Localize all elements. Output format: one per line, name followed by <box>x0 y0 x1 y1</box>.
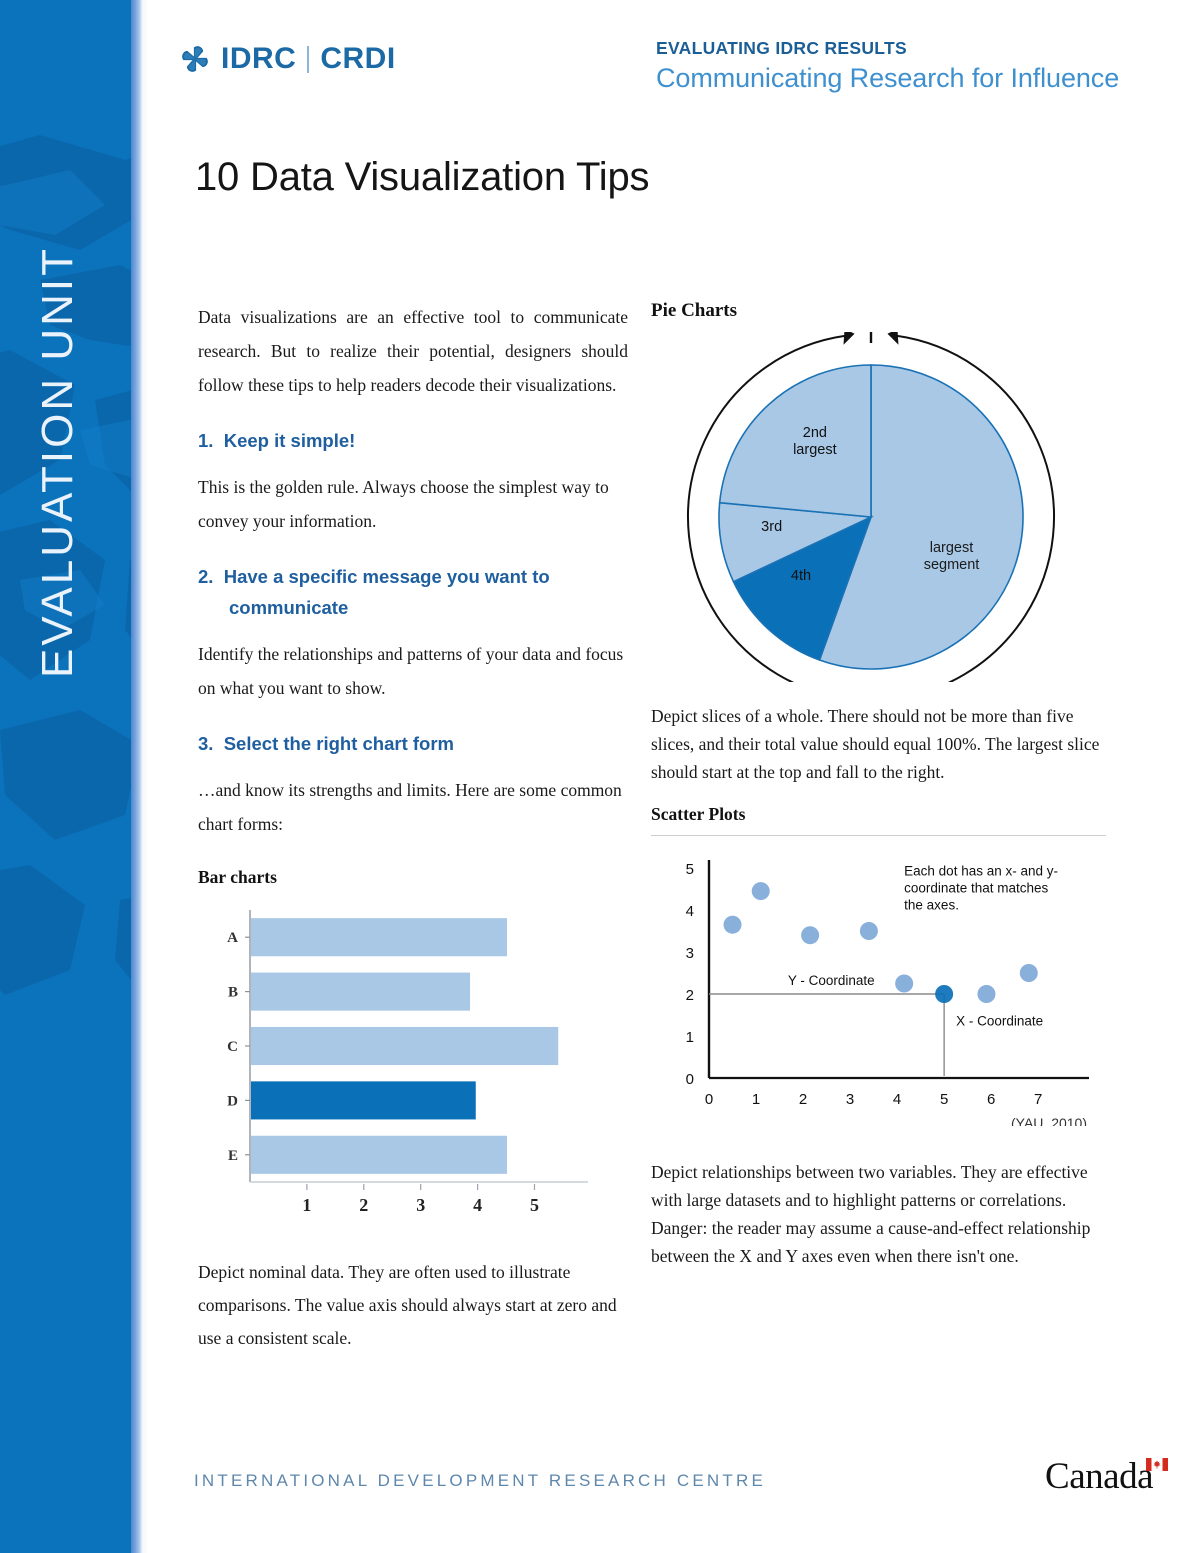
page-content: IDRC CRDI EVALUATING IDRC RESULTS Commun… <box>148 0 1200 1553</box>
intro-paragraph: Data visualizations are an effective too… <box>198 300 628 402</box>
idrc-flower-logo-icon <box>178 42 212 76</box>
header-eyebrow: EVALUATING IDRC RESULTS <box>656 38 1119 59</box>
scatter-plots-label: Scatter Plots <box>651 804 1106 825</box>
bar-charts-label: Bar charts <box>198 867 628 888</box>
logo-text-fr: CRDI <box>320 42 395 76</box>
tip-3-heading: 3. Select the right chart form <box>198 728 628 759</box>
tip-1-number: 1. <box>198 430 213 451</box>
tip-3-number: 3. <box>198 733 213 754</box>
scatter-point-5 <box>935 985 953 1003</box>
scatter-plot-figure: 01234501234567Y - CoordinateX - Coordina… <box>651 835 1106 1136</box>
scatter-plots-caption: Depict relationships between two variabl… <box>651 1158 1106 1270</box>
canada-flag-icon <box>1146 1458 1168 1471</box>
page-title: 10 Data Visualization Tips <box>195 155 649 200</box>
scatter-xtick-1: 1 <box>752 1091 760 1108</box>
pie-label-largest-segment: largest <box>930 540 974 556</box>
header-tagline: Communicating Research for Influence <box>656 63 1119 94</box>
tip-2-heading: 2. Have a specific message you want to c… <box>198 561 628 623</box>
tip-3-title: Select the right chart form <box>224 733 454 754</box>
canada-wordmark-text: Canada <box>1045 1455 1153 1498</box>
logo-divider <box>307 46 309 73</box>
scatter-citation: (YAU, 2010) <box>1011 1115 1087 1126</box>
tip-1-title: Keep it simple! <box>224 430 356 451</box>
scatter-xtick-3: 3 <box>846 1091 854 1108</box>
scatter-y-coordinate-label: Y - Coordinate <box>788 973 875 988</box>
pie-chart-figure: Startlargestsegment4th3rd2ndlargest <box>661 332 1091 682</box>
scatter-ytick-4: 4 <box>686 903 694 920</box>
bar-xtick-5: 5 <box>530 1195 539 1215</box>
bar-ytick-C: C <box>227 1039 238 1055</box>
bar-ytick-B: B <box>228 985 238 1001</box>
canada-wordmark: Canada <box>1045 1455 1168 1498</box>
scatter-ytick-5: 5 <box>686 861 694 878</box>
sidebar-vertical-title: EVALUATION UNIT <box>33 182 83 742</box>
document-footer: INTERNATIONAL DEVELOPMENT RESEARCH CENTR… <box>178 1455 1168 1515</box>
logo-text-en: IDRC <box>221 42 296 76</box>
bar-A <box>251 918 507 956</box>
left-column: Data visualizations are an effective too… <box>198 300 628 1357</box>
pie-label-2nd-largest: largest <box>793 442 837 458</box>
scatter-ytick-2: 2 <box>686 987 694 1004</box>
footer-organization-name: INTERNATIONAL DEVELOPMENT RESEARCH CENTR… <box>194 1471 766 1491</box>
left-sidebar-banner: EVALUATION UNIT <box>0 0 131 1553</box>
scatter-ytick-1: 1 <box>686 1029 694 1046</box>
scatter-xtick-0: 0 <box>705 1091 713 1108</box>
pie-label-4th: 4th <box>791 568 811 584</box>
bar-xtick-4: 4 <box>473 1195 482 1215</box>
bar-xtick-2: 2 <box>359 1195 368 1215</box>
scatter-annotation-line-2: the axes. <box>904 898 959 913</box>
scatter-point-6 <box>977 985 995 1003</box>
scatter-ytick-0: 0 <box>686 1071 694 1088</box>
bar-chart-figure: ABCDE12345 <box>208 902 608 1232</box>
bar-xtick-1: 1 <box>302 1195 311 1215</box>
pie-arrow-left <box>844 332 855 345</box>
document-header: IDRC CRDI EVALUATING IDRC RESULTS Commun… <box>178 38 1168 128</box>
scatter-point-0 <box>724 916 742 934</box>
scatter-xtick-6: 6 <box>987 1091 995 1108</box>
scatter-xtick-5: 5 <box>940 1091 948 1108</box>
tip-2-body: Identify the relationships and patterns … <box>198 637 628 705</box>
scatter-xtick-7: 7 <box>1034 1091 1042 1108</box>
pie-charts-label: Pie Charts <box>651 300 1106 322</box>
scatter-point-7 <box>1020 964 1038 982</box>
tip-1-body: This is the golden rule. Always choose t… <box>198 470 628 538</box>
tip-3-body: …and know its strengths and limits. Here… <box>198 773 628 841</box>
scatter-ytick-3: 3 <box>686 945 694 962</box>
right-column: Pie Charts Startlargestsegment4th3rd2ndl… <box>651 300 1106 1272</box>
scatter-point-3 <box>860 922 878 940</box>
header-subtitle-block: EVALUATING IDRC RESULTS Communicating Re… <box>656 38 1119 94</box>
scatter-annotation-line-1: coordinate that matches <box>904 881 1048 896</box>
bar-B <box>251 973 470 1011</box>
scatter-point-2 <box>801 926 819 944</box>
pie-label-2nd-largest: 2nd <box>803 425 827 441</box>
tip-2-title: Have a specific message you want to comm… <box>224 566 550 618</box>
bar-D <box>251 1081 476 1119</box>
pie-charts-caption: Depict slices of a whole. There should n… <box>651 702 1106 786</box>
bar-xtick-3: 3 <box>416 1195 425 1215</box>
scatter-xtick-4: 4 <box>893 1091 901 1108</box>
scatter-xtick-2: 2 <box>799 1091 807 1108</box>
bar-ytick-E: E <box>228 1148 238 1164</box>
tip-1-heading: 1. Keep it simple! <box>198 425 628 456</box>
tip-2-number: 2. <box>198 566 213 587</box>
pie-label-largest-segment: segment <box>924 557 980 573</box>
bar-ytick-A: A <box>227 930 238 946</box>
bar-charts-caption: Depict nominal data. They are often used… <box>198 1256 628 1355</box>
scatter-point-4 <box>895 975 913 993</box>
bar-ytick-D: D <box>227 1093 238 1109</box>
scatter-annotation-line-0: Each dot has an x- and y- <box>904 864 1058 879</box>
sidebar-gradient-edge <box>131 0 142 1553</box>
pie-arrow-right <box>887 332 898 345</box>
scatter-x-coordinate-label: X - Coordinate <box>956 1014 1043 1029</box>
pie-label-3rd: 3rd <box>761 519 782 535</box>
idrc-logo: IDRC CRDI <box>178 42 396 76</box>
bar-E <box>251 1136 507 1174</box>
scatter-point-1 <box>752 882 770 900</box>
bar-C <box>251 1027 558 1065</box>
